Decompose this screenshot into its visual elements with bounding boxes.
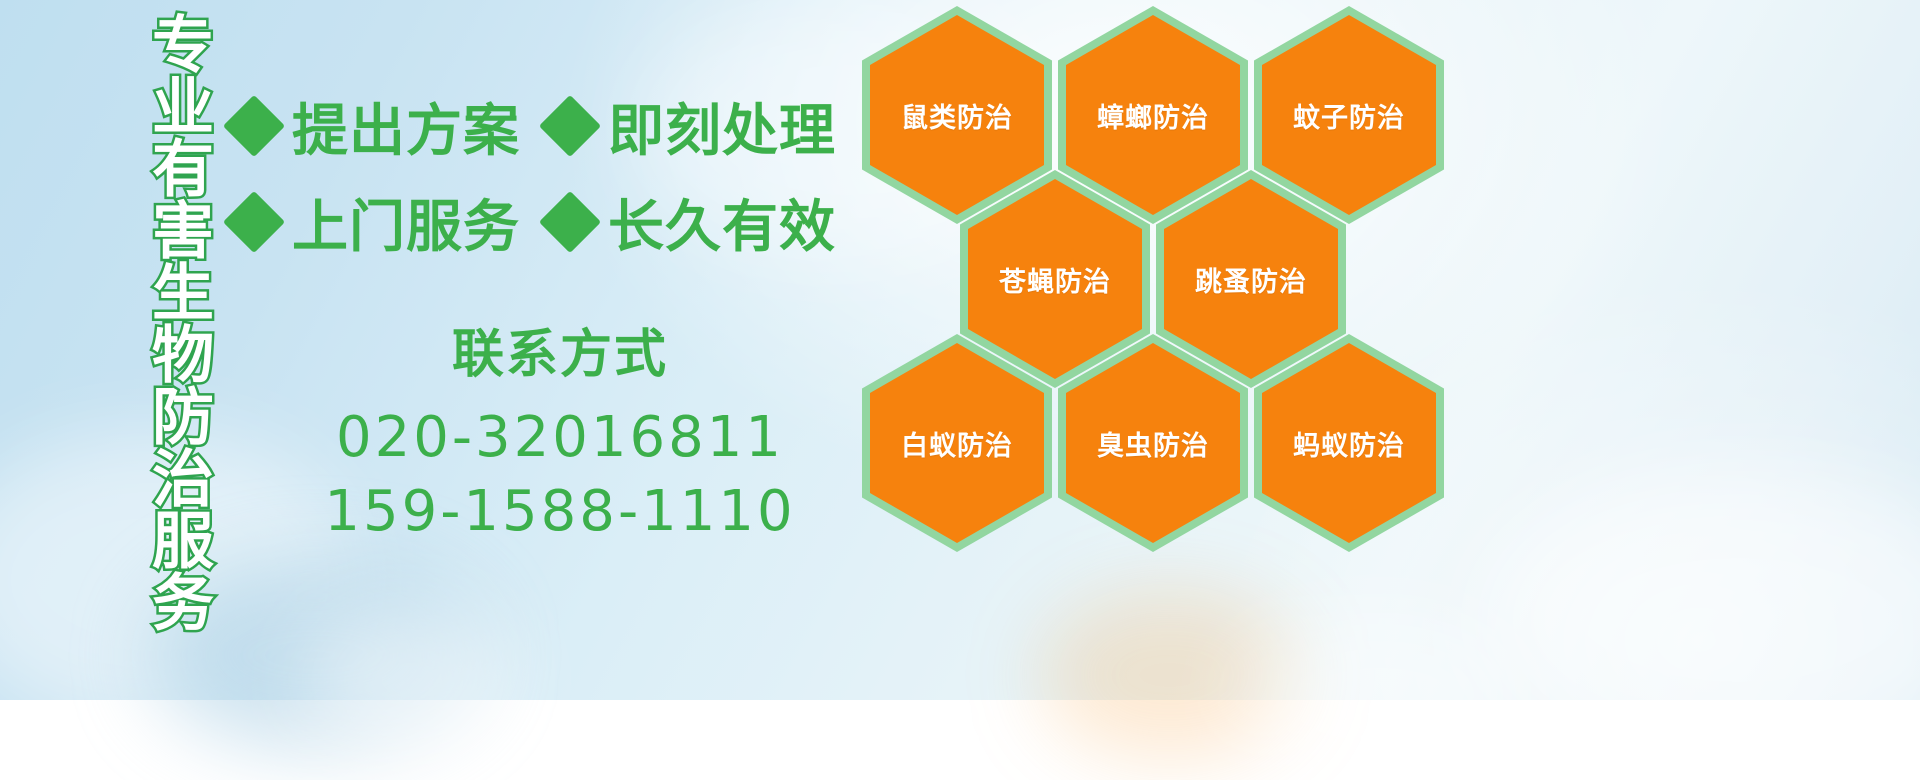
service-honeycomb: 鼠类防治 蟑螂防治 蚊子防治 苍蝇防治 跳蚤防治 白蚁防治 (862, 0, 1462, 700)
phone-mobile[interactable]: 159-1588-1110 (300, 475, 820, 549)
diamond-icon (223, 191, 285, 253)
feature-label: 提出方案 (292, 86, 520, 167)
hex-inner: 蚂蚁防治 (1262, 343, 1436, 543)
feature-row: 上门服务 长久有效 (232, 174, 872, 270)
feature-label: 上门服务 (292, 182, 520, 263)
feature-list: 提出方案 即刻处理 上门服务 长久有效 (232, 78, 872, 270)
diamond-icon (539, 191, 601, 253)
service-label: 蚊子防治 (1293, 96, 1405, 135)
contact-title: 联系方式 (300, 312, 820, 387)
vertical-slogan: 专业有害生物防治服务 (104, 12, 208, 632)
feature-label: 即刻处理 (608, 86, 836, 167)
service-label: 跳蚤防治 (1195, 260, 1307, 299)
hex-inner: 蟑螂防治 (1066, 15, 1240, 215)
background-blob (300, 600, 520, 760)
service-label: 白蚁防治 (901, 424, 1013, 463)
hex-inner: 鼠类防治 (870, 15, 1044, 215)
hex-inner: 蚊子防治 (1262, 15, 1436, 215)
contact-block: 联系方式 020-32016811 159-1588-1110 (300, 312, 820, 549)
feature-item: 上门服务 (232, 182, 520, 263)
feature-label: 长久有效 (608, 182, 836, 263)
feature-item: 提出方案 (232, 86, 520, 167)
feature-item: 即刻处理 (548, 86, 836, 167)
service-label: 鼠类防治 (901, 96, 1013, 135)
diamond-icon (539, 95, 601, 157)
background-blob (1480, 470, 1920, 770)
hex-inner: 白蚁防治 (870, 343, 1044, 543)
phone-landline[interactable]: 020-32016811 (300, 401, 820, 475)
feature-row: 提出方案 即刻处理 (232, 78, 872, 174)
diamond-icon (223, 95, 285, 157)
pest-control-banner: 专业有害生物防治服务 提出方案 即刻处理 上门服务 长久有效 联系方式 (0, 0, 1920, 700)
service-label: 苍蝇防治 (999, 260, 1111, 299)
feature-item: 长久有效 (548, 182, 836, 263)
service-label: 蟑螂防治 (1097, 96, 1209, 135)
hex-inner: 跳蚤防治 (1164, 179, 1338, 379)
service-label: 臭虫防治 (1097, 424, 1209, 463)
hex-inner: 臭虫防治 (1066, 343, 1240, 543)
service-label: 蚂蚁防治 (1293, 424, 1405, 463)
hex-inner: 苍蝇防治 (968, 179, 1142, 379)
